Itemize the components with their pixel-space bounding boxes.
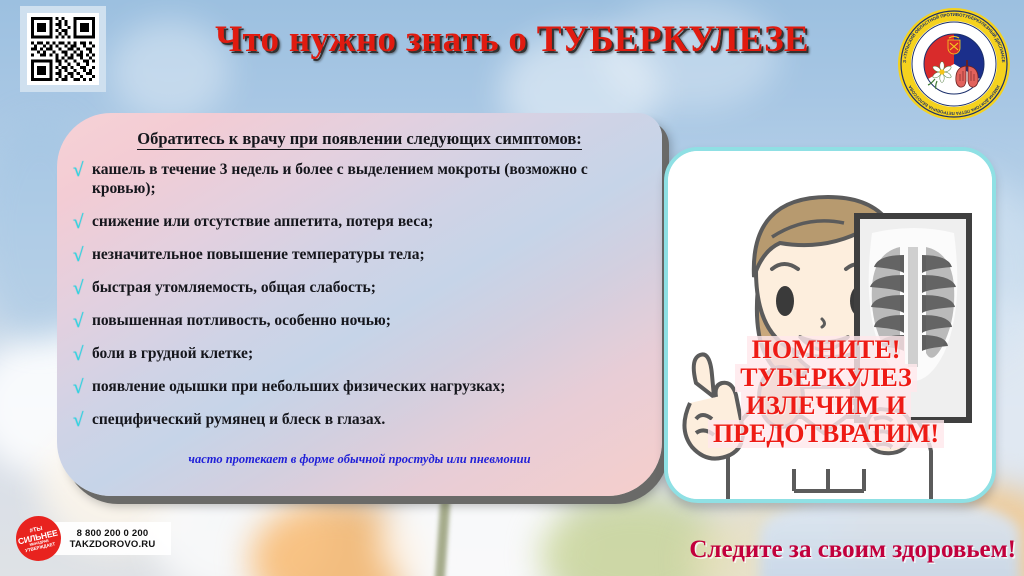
check-icon: √ (73, 161, 88, 180)
check-icon: √ (73, 246, 88, 265)
list-item: √ специфический румянец и блеск в глазах… (73, 411, 651, 430)
symptoms-panel: Обратитесь к врачу при появлении следующ… (57, 113, 662, 496)
ty-silnee-logo: #ТЫ СИЛЬНЕЕ МИНЗДРАВ УТВЕРЖДАЕТ (16, 516, 61, 561)
list-item: √ боли в грудной клетке; (73, 345, 651, 364)
symptoms-heading: Обратитесь к врачу при появлении следующ… (57, 129, 662, 149)
list-item: √ незначительное повышение температуры т… (73, 246, 651, 265)
check-icon: √ (73, 345, 88, 364)
symptoms-heading-text: Обратитесь к врачу при появлении следующ… (137, 129, 581, 150)
takzdorovo-contact: 8 800 200 0 200 TAKZDOROVO.RU (54, 522, 171, 555)
remember-line-4: ПРЕДОТВРАТИМ! (708, 420, 944, 448)
list-item-label: снижение или отсутствие аппетита, потеря… (92, 213, 651, 232)
remember-callout: ПОМНИТЕ! ТУБЕРКУЛЕЗ ИЗЛЕЧИМ И ПРЕДОТВРАТ… (664, 336, 988, 448)
panel-footnote: часто протекает в форме обычной простуды… (57, 452, 662, 467)
page-title: Что нужно знать о ТУБЕРКУЛЕЗЕ (0, 18, 1024, 61)
list-item-label: повышенная потливость, особенно ночью; (92, 312, 651, 331)
list-item-label: специфический румянец и блеск в глазах. (92, 411, 651, 430)
list-item-label: боли в грудной клетке; (92, 345, 651, 364)
hotline-phone: 8 800 200 0 200 (77, 528, 149, 539)
check-icon: √ (73, 312, 88, 331)
remember-line-3: ИЗЛЕЧИМ И (741, 392, 911, 420)
check-icon: √ (73, 279, 88, 298)
list-item-label: быстрая утомляемость, общая слабость; (92, 279, 651, 298)
nurse-illustration-card (664, 147, 996, 503)
remember-line-2: ТУБЕРКУЛЕЗ (735, 364, 917, 392)
check-icon: √ (73, 213, 88, 232)
hotline-website: TAKZDOROVO.RU (70, 539, 156, 550)
list-item-label: появление одышки при небольших физически… (92, 378, 651, 397)
list-item-label: кашель в течение 3 недель и более с выде… (92, 161, 651, 199)
symptoms-list: √ кашель в течение 3 недель и более с вы… (73, 161, 651, 444)
takzdorovo-badge[interactable]: #ТЫ СИЛЬНЕЕ МИНЗДРАВ УТВЕРЖДАЕТ 8 800 20… (16, 516, 171, 561)
check-icon: √ (73, 378, 88, 397)
check-icon: √ (73, 411, 88, 430)
list-item: √ повышенная потливость, особенно ночью; (73, 312, 651, 331)
list-item: √ снижение или отсутствие аппетита, поте… (73, 213, 651, 232)
poster-root: ГУЗ «ТУЛЬСКИЙ ОБЛАСТНОЙ ПРОТИВОТУБЕРКУЛЕ… (0, 0, 1024, 576)
list-item: √ появление одышки при небольших физичес… (73, 378, 651, 397)
list-item: √ кашель в течение 3 недель и более с вы… (73, 161, 651, 199)
list-item: √ быстрая утомляемость, общая слабость; (73, 279, 651, 298)
footer-tagline: Следите за своим здоровьем! (624, 536, 1016, 564)
list-item-label: незначительное повышение температуры тел… (92, 246, 651, 265)
remember-line-1: ПОМНИТЕ! (747, 336, 906, 364)
